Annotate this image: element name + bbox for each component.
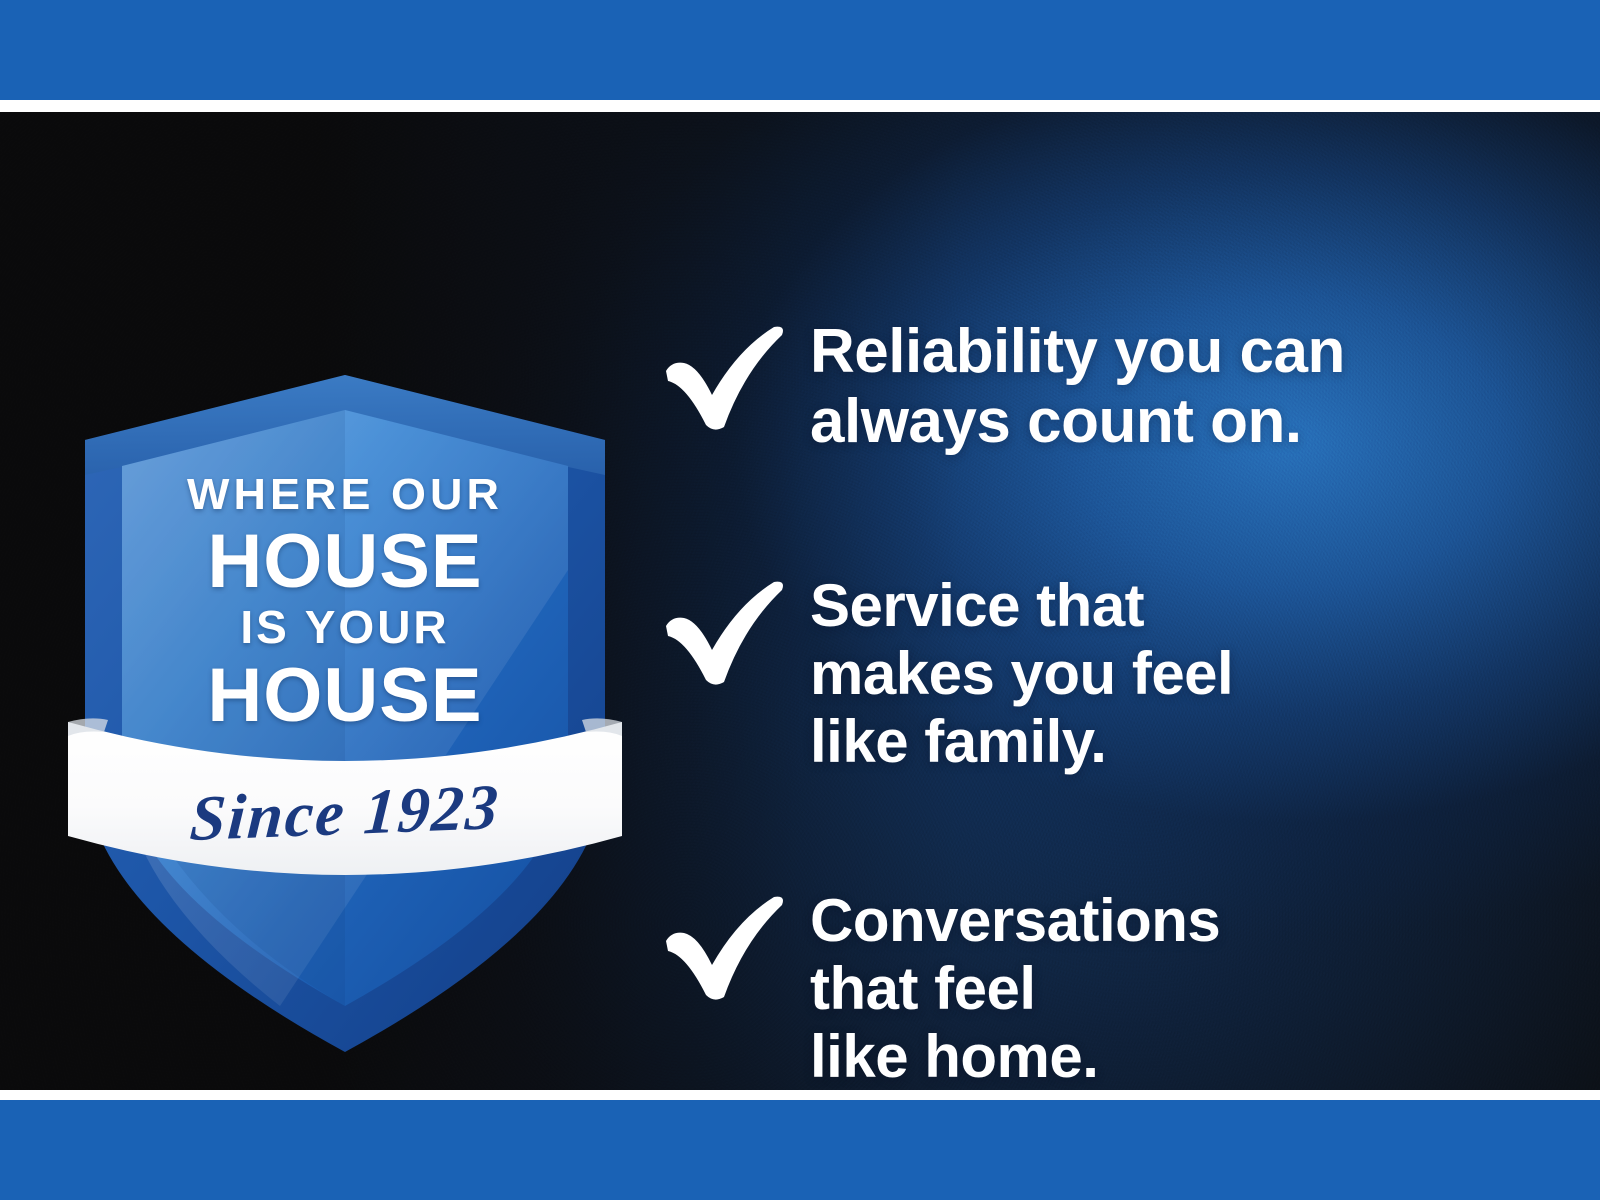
benefits-list: Reliability you can always count on. Ser… <box>660 262 1560 1090</box>
list-item: Conversations that feel like home. <box>660 887 1560 1090</box>
list-item-text: Reliability you can always count on. <box>810 317 1345 457</box>
list-item-line: always count on. <box>810 387 1345 457</box>
list-item-line: makes you feel <box>810 640 1233 708</box>
bottom-brand-bar <box>0 1100 1600 1200</box>
list-item-line: Service that <box>810 572 1233 640</box>
main-panel: WHERE OUR HOUSE IS YOUR HOUSE Since 1923… <box>0 112 1600 1090</box>
shield-graphic <box>60 270 630 950</box>
heritage-badge: WHERE OUR HOUSE IS YOUR HOUSE Since 1923 <box>60 270 630 950</box>
promo-graphic: WHERE OUR HOUSE IS YOUR HOUSE Since 1923… <box>0 0 1600 1200</box>
checkmark-icon <box>660 317 810 431</box>
checkmark-icon <box>660 572 810 686</box>
list-item-line: Conversations <box>810 887 1220 955</box>
shield-inner-shadow <box>122 410 345 1006</box>
list-item-line: Reliability you can <box>810 317 1345 387</box>
list-item: Service that makes you feel like family. <box>660 572 1560 775</box>
top-brand-bar <box>0 0 1600 100</box>
list-item-text: Conversations that feel like home. <box>810 887 1220 1090</box>
list-item-line: that feel <box>810 955 1220 1023</box>
list-item-line: like family. <box>810 708 1233 776</box>
list-item: Reliability you can always count on. <box>660 317 1560 457</box>
checkmark-icon <box>660 887 810 1001</box>
list-item-line: like home. <box>810 1023 1220 1090</box>
list-item-text: Service that makes you feel like family. <box>810 572 1233 775</box>
